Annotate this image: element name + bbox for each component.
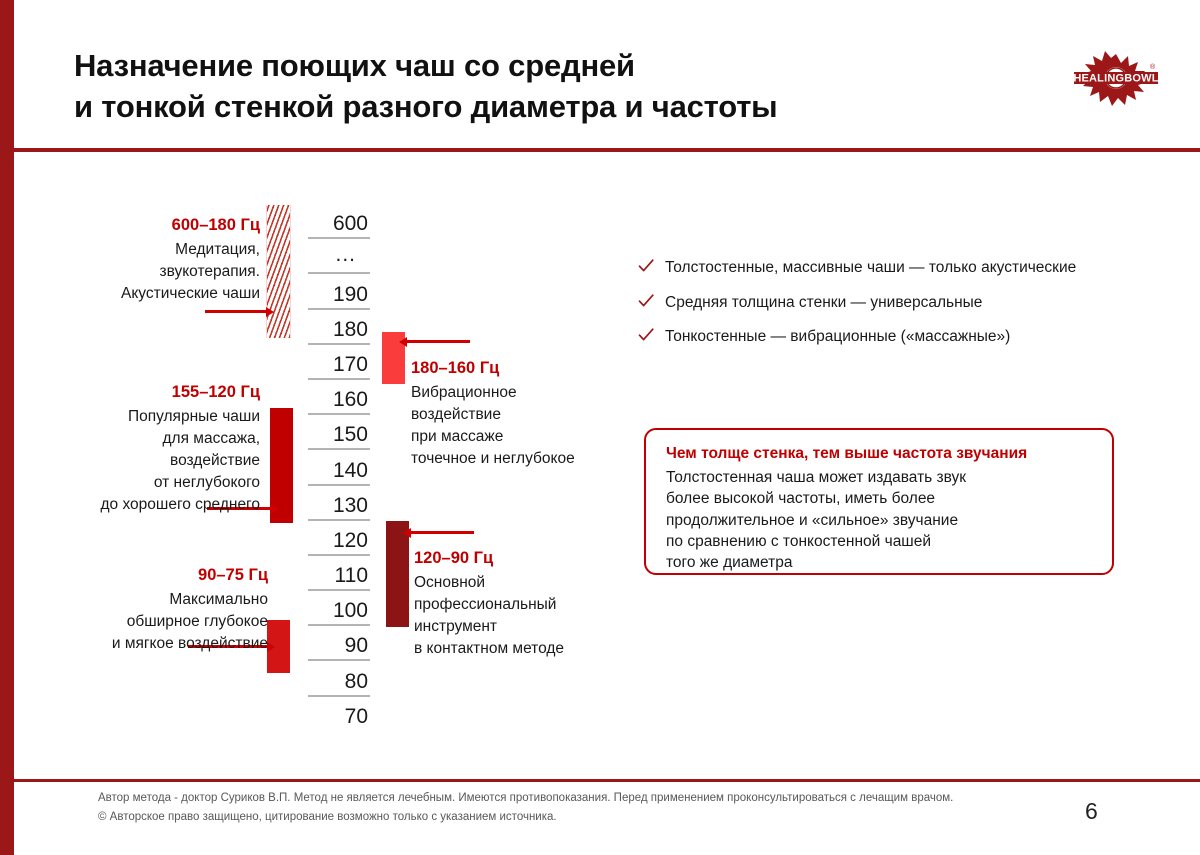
- footer-line-2: © Авторское право защищено, цитирование …: [98, 808, 1058, 827]
- frequency-scale: 600 ... 190 180 170 160 150 140 130 120 …: [308, 204, 370, 730]
- annotation-line: Медитация,: [30, 239, 260, 261]
- scale-row-label: 120: [333, 530, 368, 551]
- scale-row: 70: [308, 697, 370, 730]
- scale-row-label: 190: [333, 284, 368, 305]
- scale-row: 180: [308, 310, 370, 345]
- leader-line-vibration: [406, 340, 470, 343]
- list-item-label: Толстостенные, массивные чаши — только а…: [665, 259, 1076, 276]
- callout-line: продолжительное и «сильное» звучание: [666, 510, 1092, 531]
- page-title-line-1: Назначение поющих чаш со средней: [74, 45, 974, 86]
- annotation-description: Популярные чаши для массажа, воздействие…: [20, 406, 260, 516]
- annotation-line: Основной: [414, 572, 634, 594]
- annotation-line: Акустические чаши: [30, 283, 260, 305]
- scale-row: 170: [308, 345, 370, 380]
- scale-row: 90: [308, 626, 370, 661]
- annotation-line: воздействие: [20, 450, 260, 472]
- annotation-line: до хорошего среднего: [20, 494, 260, 516]
- scale-row: 110: [308, 556, 370, 591]
- scale-row: 150: [308, 415, 370, 450]
- page-number: 6: [1085, 798, 1098, 825]
- scale-row: 160: [308, 380, 370, 415]
- annotation-popular: 155–120 Гц Популярные чаши для массажа, …: [20, 380, 260, 516]
- healingbowl-logo: HEALINGBOWL ®: [1068, 46, 1164, 108]
- scale-row-label: 180: [333, 319, 368, 340]
- annotation-line: и мягкое воздействие: [20, 633, 268, 655]
- callout-line: по сравнению с тонкостенной чашей: [666, 531, 1092, 552]
- page-title: Назначение поющих чаш со средней и тонко…: [74, 45, 974, 127]
- annotation-line: воздействие: [411, 404, 641, 426]
- scale-row-label: 130: [333, 495, 368, 516]
- logo-registered-mark: ®: [1150, 63, 1156, 71]
- list-item-label: Средняя толщина стенки — универсальные: [665, 294, 982, 311]
- annotation-line: звукотерапия.: [30, 261, 260, 283]
- annotation-line: Вибрационное: [411, 382, 641, 404]
- scale-row: 120: [308, 521, 370, 556]
- annotation-frequency: 180–160 Гц: [411, 356, 641, 381]
- callout-line: Толстостенная чаша может издавать звук: [666, 467, 1092, 488]
- annotation-frequency: 600–180 Гц: [30, 213, 260, 238]
- annotation-line: инструмент: [414, 616, 634, 638]
- callout-body: Толстостенная чаша может издавать звук б…: [666, 467, 1092, 574]
- annotation-description: Основной профессиональный инструмент в к…: [414, 572, 634, 660]
- scale-row-label: 600: [333, 213, 368, 234]
- annotation-line: для массажа,: [20, 428, 260, 450]
- annotation-frequency: 90–75 Гц: [20, 563, 268, 588]
- annotation-line: при массаже: [411, 426, 641, 448]
- scale-row-label: 160: [333, 389, 368, 410]
- list-item: Тонкостенные — вибрационные («массажные»…: [638, 327, 1158, 347]
- left-accent-bar: [0, 0, 14, 855]
- check-icon: [638, 327, 654, 343]
- logo-text: HEALINGBOWL: [1073, 72, 1158, 84]
- annotation-line: от неглубокого: [20, 472, 260, 494]
- scale-row: 80: [308, 661, 370, 696]
- scale-row-label: 150: [333, 424, 368, 445]
- annotation-line: Максимально: [20, 589, 268, 611]
- annotation-main-tool: 120–90 Гц Основной профессиональный инст…: [414, 546, 634, 660]
- annotation-description: Медитация, звукотерапия. Акустические ча…: [30, 239, 260, 305]
- slide-root: Назначение поющих чаш со средней и тонко…: [0, 0, 1200, 855]
- leader-line-main-tool: [410, 531, 474, 534]
- check-icon: [638, 293, 654, 309]
- annotation-meditation: 600–180 Гц Медитация, звукотерапия. Акус…: [30, 213, 260, 305]
- footer-line-1: Автор метода - доктор Суриков В.П. Метод…: [98, 789, 1058, 808]
- callout-box: Чем толще стенка, тем выше частота звуча…: [644, 428, 1114, 575]
- scale-row-label: 100: [333, 600, 368, 621]
- annotation-vibration: 180–160 Гц Вибрационное воздействие при …: [411, 356, 641, 470]
- list-item: Средняя толщина стенки — универсальные: [638, 293, 1158, 313]
- annotation-line: обширное глубокое: [20, 611, 268, 633]
- annotation-line: точечное и неглубокое: [411, 448, 641, 470]
- footer-text: Автор метода - доктор Суриков В.П. Метод…: [98, 789, 1058, 826]
- annotation-line: в контактном методе: [414, 638, 634, 660]
- scale-row-label: 80: [345, 671, 368, 692]
- callout-line: того же диаметра: [666, 552, 1092, 573]
- scale-row-label: ...: [335, 244, 356, 265]
- scale-row-label: 170: [333, 354, 368, 375]
- list-item-label: Тонкостенные — вибрационные («массажные»…: [665, 328, 1010, 345]
- leader-line-meditation: [205, 310, 267, 313]
- annotation-maximum: 90–75 Гц Максимально обширное глубокое и…: [20, 563, 268, 655]
- scale-row: 600: [308, 204, 370, 239]
- footer-divider: [14, 779, 1200, 782]
- scale-row: 140: [308, 450, 370, 485]
- header-divider: [14, 148, 1200, 152]
- annotation-frequency: 120–90 Гц: [414, 546, 634, 571]
- scale-row-label: 90: [345, 635, 368, 656]
- scale-row: ...: [308, 239, 370, 274]
- checklist: Толстостенные, массивные чаши — только а…: [638, 258, 1158, 362]
- scale-row: 190: [308, 274, 370, 309]
- list-item: Толстостенные, массивные чаши — только а…: [638, 258, 1158, 278]
- annotation-frequency: 155–120 Гц: [20, 380, 260, 405]
- range-bar-meditation: [266, 205, 291, 338]
- callout-title: Чем толще стенка, тем выше частота звуча…: [666, 444, 1092, 465]
- annotation-line: профессиональный: [414, 594, 634, 616]
- scale-row: 130: [308, 486, 370, 521]
- scale-row: 100: [308, 591, 370, 626]
- annotation-line: Популярные чаши: [20, 406, 260, 428]
- check-icon: [638, 258, 654, 274]
- page-title-line-2: и тонкой стенкой разного диаметра и част…: [74, 86, 974, 127]
- scale-row-label: 140: [333, 460, 368, 481]
- callout-line: более высокой частоты, иметь более: [666, 488, 1092, 509]
- annotation-description: Вибрационное воздействие при массаже точ…: [411, 382, 641, 470]
- annotation-description: Максимально обширное глубокое и мягкое в…: [20, 589, 268, 655]
- scale-row-label: 110: [335, 565, 368, 586]
- scale-row-label: 70: [345, 706, 368, 727]
